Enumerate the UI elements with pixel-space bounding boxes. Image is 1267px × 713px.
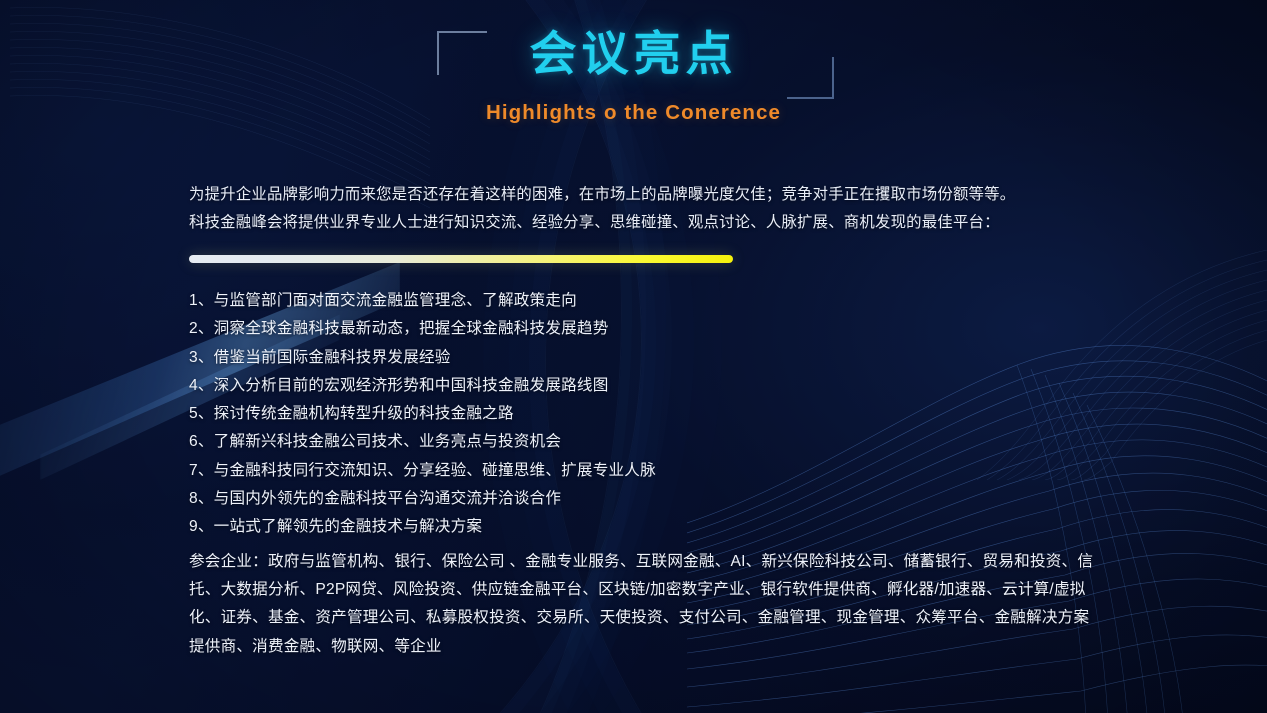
- intro-paragraph: 为提升企业品牌影响力而来您是否还存在着这样的困难，在市场上的品牌曝光度欠佳；竞争…: [189, 181, 1147, 237]
- attendees-line: 参会企业：政府与监管机构、银行、保险公司 、金融专业服务、互联网金融、AI、新兴…: [189, 548, 1121, 576]
- presentation-slide: 会议亮点 Highlights o the Conerence 为提升企业品牌影…: [0, 0, 1267, 713]
- intro-line: 为提升企业品牌影响力而来您是否还存在着这样的困难，在市场上的品牌曝光度欠佳；竞争…: [189, 181, 1147, 209]
- attendees-paragraph: 参会企业：政府与监管机构、银行、保险公司 、金融专业服务、互联网金融、AI、新兴…: [189, 548, 1121, 662]
- intro-line: 科技金融峰会将提供业界专业人士进行知识交流、经验分享、思维碰撞、观点讨论、人脉扩…: [189, 209, 1147, 237]
- list-item: 2、洞察全球金融科技最新动态，把握全球金融科技发展趋势: [189, 315, 1147, 343]
- list-item: 8、与国内外领先的金融科技平台沟通交流并洽谈合作: [189, 485, 1147, 513]
- page-title: 会议亮点: [0, 26, 1267, 81]
- list-item: 7、与金融科技同行交流知识、分享经验、碰撞思维、扩展专业人脉: [189, 457, 1147, 485]
- list-item: 4、深入分析目前的宏观经济形势和中国科技金融发展路线图: [189, 372, 1147, 400]
- attendees-line: 化、证券、基金、资产管理公司、私募股权投资、交易所、天使投资、支付公司、金融管理…: [189, 604, 1121, 632]
- slide-header: 会议亮点 Highlights o the Conerence: [0, 26, 1267, 125]
- attendees-line: 托、大数据分析、P2P网贷、风险投资、供应链金融平台、区块链/加密数字产业、银行…: [189, 576, 1121, 604]
- list-item: 9、一站式了解领先的金融技术与解决方案: [189, 513, 1147, 541]
- page-subtitle: Highlights o the Conerence: [0, 101, 1267, 125]
- list-item: 1、与监管部门面对面交流金融监管理念、了解政策走向: [189, 287, 1147, 315]
- attendees-line: 提供商、消费金融、物联网、等企业: [189, 633, 1121, 661]
- list-item: 6、了解新兴科技金融公司技术、业务亮点与投资机会: [189, 428, 1147, 456]
- highlights-list: 1、与监管部门面对面交流金融监管理念、了解政策走向 2、洞察全球金融科技最新动态…: [189, 287, 1147, 542]
- slide-content: 为提升企业品牌影响力而来您是否还存在着这样的困难，在市场上的品牌曝光度欠佳；竞争…: [189, 181, 1147, 661]
- gradient-divider: [189, 255, 733, 263]
- list-item: 5、探讨传统金融机构转型升级的科技金融之路: [189, 400, 1147, 428]
- list-item: 3、借鉴当前国际金融科技界发展经验: [189, 344, 1147, 372]
